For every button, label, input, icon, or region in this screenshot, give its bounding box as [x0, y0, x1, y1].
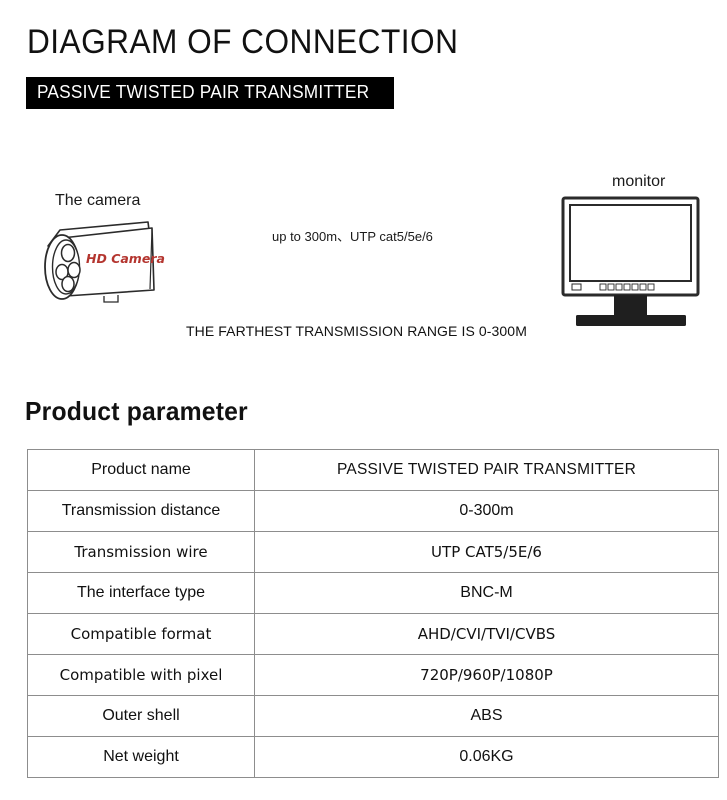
spec-key: Transmission wire [28, 532, 255, 573]
table-row: Transmission wire UTP CAT5/5E/6 [28, 532, 719, 573]
spec-value: AHD/CVI/TVI/CVBS [255, 614, 719, 655]
connection-diagram: HD Camera [0, 150, 727, 360]
spec-key: Outer shell [28, 696, 255, 737]
spec-key: Compatible with pixel [28, 655, 255, 696]
subtitle-banner-label: PASSIVE TWISTED PAIR TRANSMITTER [37, 82, 369, 103]
spec-key: Product name [28, 450, 255, 491]
section-title-product-parameter: Product parameter [25, 396, 248, 426]
cctv-camera-illustration: HD Camera [45, 222, 165, 302]
spec-key: Net weight [28, 737, 255, 778]
table-row: Transmission distance 0-300m [28, 491, 719, 532]
monitor-button-row [600, 284, 654, 290]
spec-value: 0.06KG [255, 737, 719, 778]
spec-value: 0-300m [255, 491, 719, 532]
spec-key: Compatible format [28, 614, 255, 655]
subtitle-banner: PASSIVE TWISTED PAIR TRANSMITTER [26, 77, 394, 109]
table-row: Product name PASSIVE TWISTED PAIR TRANSM… [28, 450, 719, 491]
spec-value: UTP CAT5/5E/6 [255, 532, 719, 573]
table-row: Compatible with pixel 720P/960P/1080P [28, 655, 719, 696]
table-row: Compatible format AHD/CVI/TVI/CVBS [28, 614, 719, 655]
spec-value: PASSIVE TWISTED PAIR TRANSMITTER [255, 450, 719, 491]
page-title: DIAGRAM OF CONNECTION [27, 22, 458, 62]
table-row: Net weight 0.06KG [28, 737, 719, 778]
spec-value: 720P/960P/1080P [255, 655, 719, 696]
table-row: Outer shell ABS [28, 696, 719, 737]
camera-brand-text: HD Camera [86, 251, 165, 266]
spec-key: The interface type [28, 573, 255, 614]
product-parameter-table: Product name PASSIVE TWISTED PAIR TRANSM… [27, 449, 719, 778]
table-row: The interface type BNC-M [28, 573, 719, 614]
spec-value: BNC-M [255, 573, 719, 614]
spec-value: ABS [255, 696, 719, 737]
monitor-illustration [563, 198, 698, 326]
spec-key: Transmission distance [28, 491, 255, 532]
